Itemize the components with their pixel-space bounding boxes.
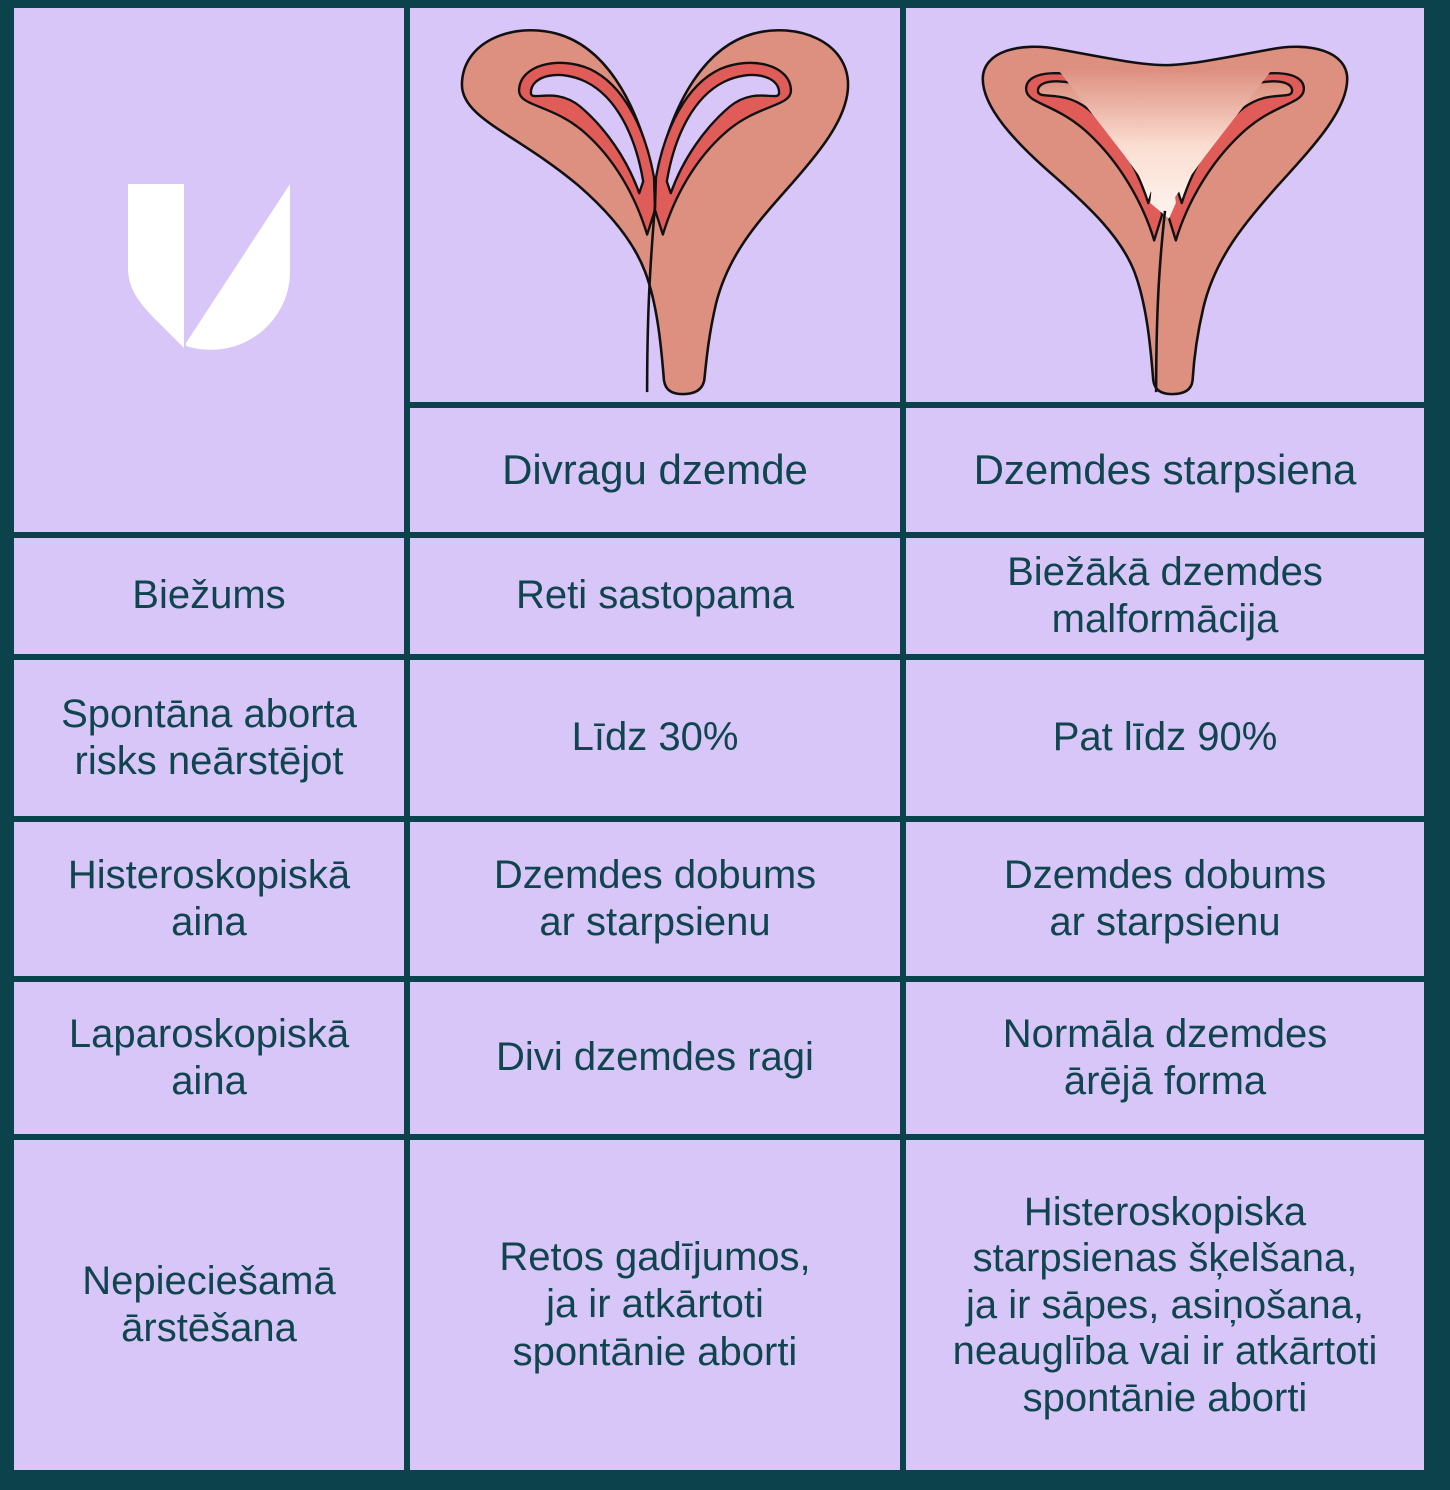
cell-biezums-bicornuate: Reti sastopama bbox=[410, 538, 906, 660]
uterine-malformation-comparison-table: Divragu dzemde Dzemdes starpsiena Biežum… bbox=[0, 0, 1450, 1490]
cell-aborta-risks-septate: Pat līdz 90% bbox=[906, 660, 1424, 822]
column-title-bicornuate: Divragu dzemde bbox=[410, 408, 906, 538]
cell-arstesana-septate: Histeroskopiska starpsienas šķelšana, ja… bbox=[906, 1140, 1424, 1470]
cell-arstesana-bicornuate: Retos gadījumos, ja ir atkārtoti spontān… bbox=[410, 1140, 906, 1470]
cell-histeroskopiska-aina-septate: Dzemdes dobums ar starpsienu bbox=[906, 822, 1424, 982]
row-label-aborta-risks: Spontāna aborta risks neārstējot bbox=[14, 660, 410, 822]
cell-aborta-risks-bicornuate: Līdz 30% bbox=[410, 660, 906, 822]
cell-laparoskopiska-aina-septate: Normāla dzemdes ārējā forma bbox=[906, 982, 1424, 1140]
table-grid: Divragu dzemde Dzemdes starpsiena Biežum… bbox=[14, 8, 1436, 1480]
row-label-histeroskopiska-aina: Histeroskopiskā aina bbox=[14, 822, 410, 982]
row-label-laparoskopiska-aina: Laparoskopiskā aina bbox=[14, 982, 410, 1140]
column-title-septate: Dzemdes starpsiena bbox=[906, 408, 1424, 538]
cell-laparoskopiska-aina-bicornuate: Divi dzemdes ragi bbox=[410, 982, 906, 1140]
cell-histeroskopiska-aina-bicornuate: Dzemdes dobums ar starpsienu bbox=[410, 822, 906, 982]
v-shield-logo-icon bbox=[124, 180, 294, 360]
bicornuate-uterus-illustration bbox=[410, 8, 906, 408]
row-label-biezums: Biežums bbox=[14, 538, 410, 660]
cell-biezums-septate: Biežākā dzemdes malformācija bbox=[906, 538, 1424, 660]
septate-uterus-illustration bbox=[906, 8, 1424, 408]
logo-cell bbox=[14, 8, 410, 538]
row-label-arstesana: Nepieciešamā ārstēšana bbox=[14, 1140, 410, 1470]
